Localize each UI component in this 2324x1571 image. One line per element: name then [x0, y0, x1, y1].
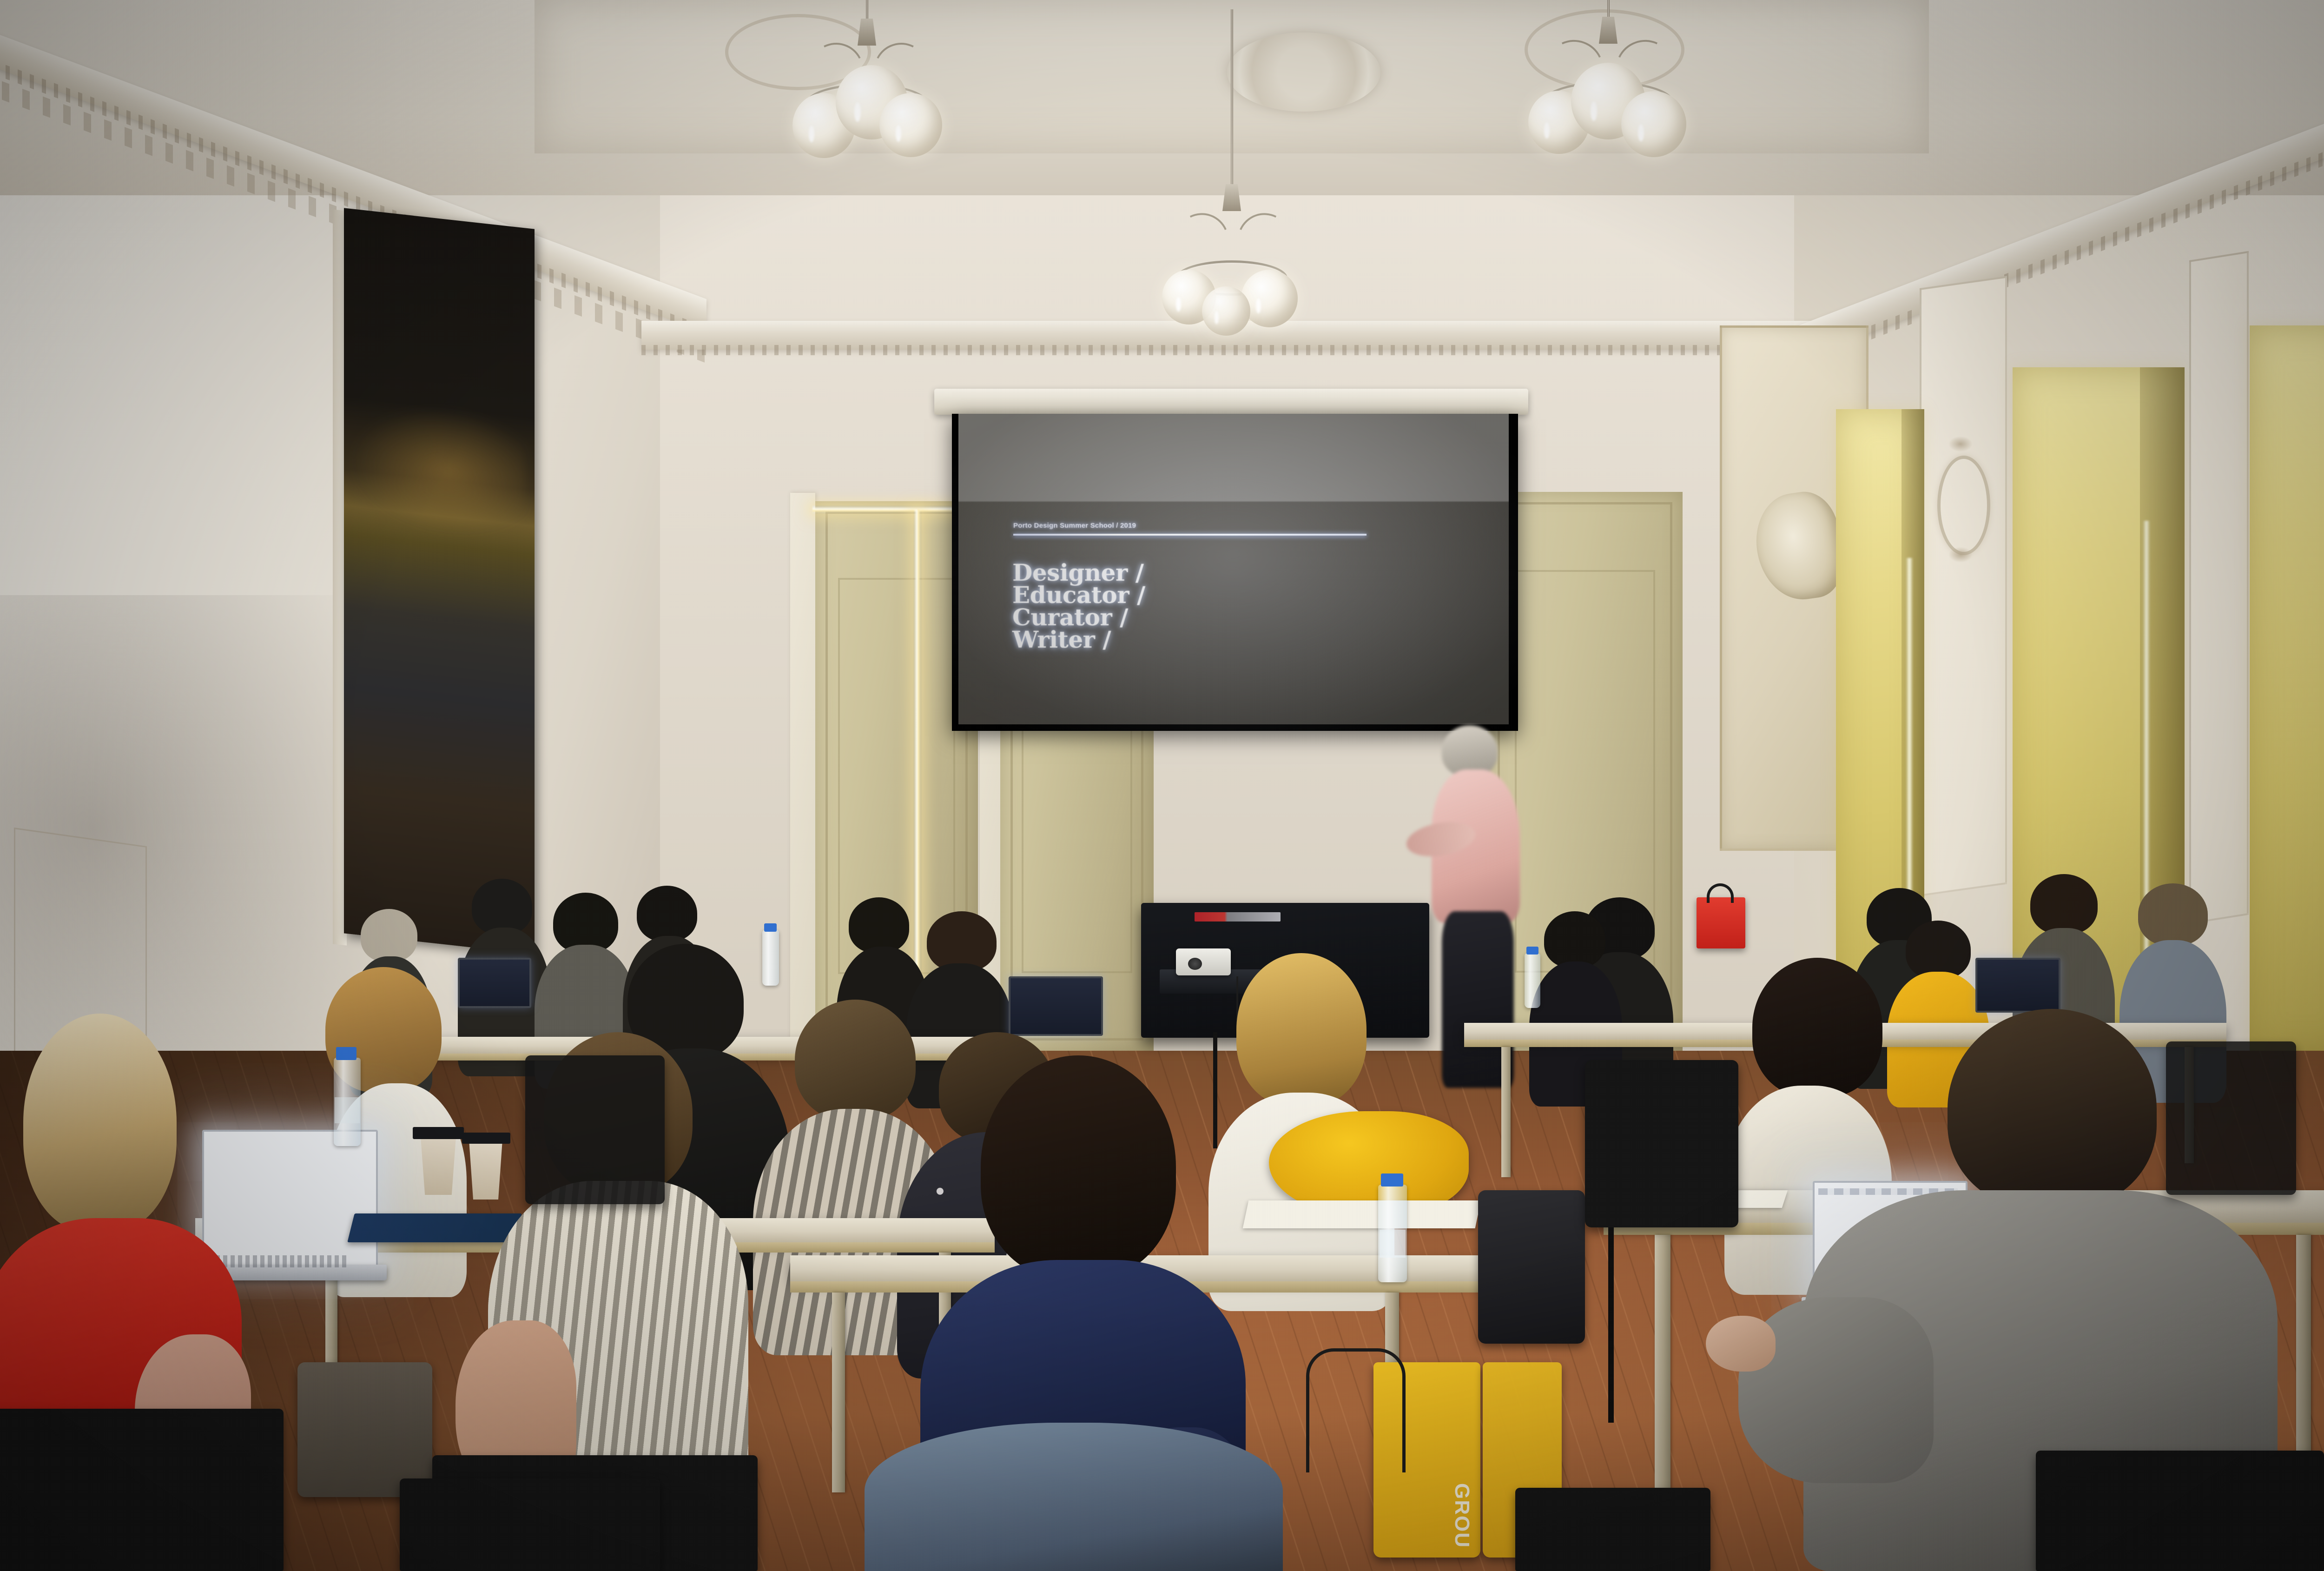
student-denim-shoulder [865, 1423, 1283, 1571]
chandelier-left [790, 0, 944, 200]
chair-mid-right-leg [1608, 1227, 1614, 1423]
table-front-right-leg-a [1655, 1235, 1670, 1495]
bottle-cap-back-b [1526, 947, 1538, 955]
projection-screen[interactable]: Porto Design Summer School / 2019 Design… [958, 414, 1509, 724]
chair-mid-right[interactable] [1585, 1060, 1738, 1227]
dark-hair-long [981, 1055, 1176, 1279]
globe-light [1621, 91, 1686, 157]
doorcase-left [790, 493, 815, 1051]
lecture-hall-photo: Porto Design Summer School / 2019 Design… [0, 0, 2324, 1571]
projection-screen-case [934, 389, 1528, 415]
medallion-knot-bottom-a [1948, 547, 1973, 563]
bottle-label-front-left [335, 1097, 360, 1123]
slide-line-writer: Writer / [1012, 629, 1145, 651]
paper-sheet-center [1243, 1200, 1481, 1228]
chandelier-right [1525, 0, 1692, 205]
slide-body: Designer / Educator / Curator / Writer / [1012, 562, 1145, 651]
blond-ponytail [1236, 953, 1367, 1107]
yellow-tote-strap [1306, 1348, 1406, 1472]
bottle-cap-back-a [764, 923, 777, 932]
wall-pilaster-right-b [2189, 251, 2249, 924]
projector-lens-icon [1188, 958, 1202, 970]
ceiling-rosette-center [1227, 33, 1380, 112]
slide-line-curator: Curator / [1012, 606, 1145, 629]
table-back-right-leg [1501, 1047, 1511, 1177]
oval-medallion-a [1937, 456, 1990, 555]
denim-top [865, 1423, 1283, 1571]
red-tote-bag [1697, 897, 1745, 948]
water-bottle-back-b [1525, 953, 1540, 1008]
table-front-right-leg-b [2296, 1235, 2311, 1477]
chair-back-right[interactable] [2166, 1041, 2296, 1195]
table-front-center-leg-b [832, 1293, 845, 1492]
av-cart-logo [1195, 912, 1281, 921]
bottle-label-center [1380, 1230, 1406, 1258]
laptop-back-right[interactable] [1975, 958, 2060, 1013]
chandelier-center [1157, 177, 1306, 409]
backpack-under-table-center [1478, 1190, 1585, 1344]
presenter-hair [1442, 725, 1498, 776]
wall-pilaster-right-a [1920, 276, 2007, 896]
slide-line-educator: Educator / [1012, 584, 1145, 606]
slide-line-designer: Designer / [1012, 562, 1145, 584]
medallion-knot-top-a [1948, 436, 1973, 452]
blond-hair [23, 1014, 177, 1232]
chair-foreground-b[interactable] [1515, 1488, 1710, 1571]
bottle-cap-center [1381, 1173, 1403, 1187]
chair-front-left[interactable] [0, 1409, 284, 1571]
slide-header-text: Porto Design Summer School / 2019 [1013, 522, 1136, 530]
hand-on-keyboard [1706, 1316, 1776, 1372]
bottle-cap-front-left [336, 1047, 357, 1060]
wavy-hair [1948, 1009, 2157, 1209]
globe-light [1241, 270, 1298, 327]
painting-amber-band [353, 400, 525, 540]
chair-foreground-a[interactable] [400, 1478, 660, 1571]
gold-door-opening-c[interactable] [2250, 325, 2324, 1051]
backpack-under-table-left [297, 1362, 432, 1497]
chair-mid-left[interactable] [525, 1055, 665, 1204]
laptop-back-center[interactable] [1009, 976, 1103, 1036]
globe-light [1202, 286, 1250, 336]
slide-rule-line [1013, 534, 1367, 536]
chair-front-right[interactable] [2036, 1451, 2324, 1571]
dark-abstract-painting [344, 208, 535, 954]
yellow-tote-text: GROU [1450, 1483, 1473, 1548]
globe-light [879, 93, 942, 157]
coffee-cup-lid-left [413, 1127, 464, 1139]
